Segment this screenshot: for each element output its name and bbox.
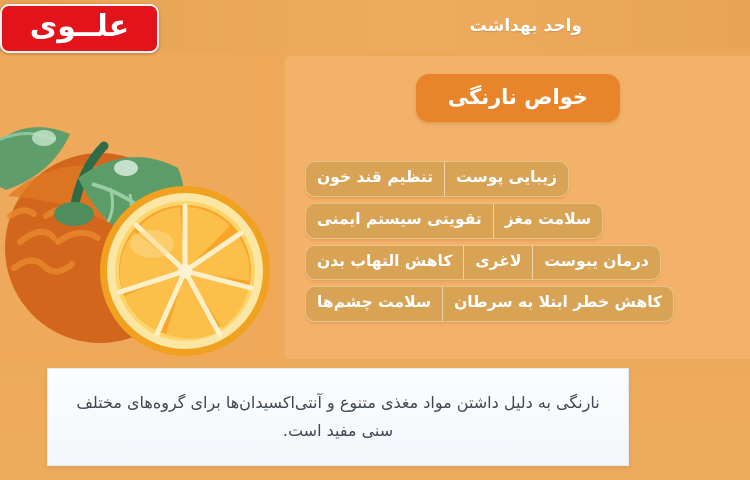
property-item[interactable]: زیبایی پوست bbox=[445, 162, 568, 196]
property-item[interactable]: درمان یبوست bbox=[533, 246, 659, 280]
property-item[interactable]: کاهش التهاب بدن bbox=[306, 246, 464, 280]
property-item[interactable]: کاهش خطر ابتلا به سرطان bbox=[443, 287, 673, 321]
header-title: واحد بهداشت bbox=[470, 16, 582, 36]
brand-logo-text: علــوی bbox=[30, 12, 130, 42]
property-item[interactable]: سلامت مغز bbox=[494, 204, 602, 238]
page-title: خواص نارنگی bbox=[416, 74, 620, 122]
description-text: نارنگی به دلیل داشتن مواد مغذی متنوع و آ… bbox=[70, 389, 606, 445]
property-row-1: زیبایی پوست تنظیم قند خون bbox=[305, 161, 569, 197]
properties-panel: خواص نارنگی زیبایی پوست تنظیم قند خون سل… bbox=[285, 56, 750, 359]
property-item[interactable]: تنظیم قند خون bbox=[306, 162, 445, 196]
fruit-image-panel bbox=[0, 56, 277, 359]
brand-logo: علــوی bbox=[0, 4, 159, 53]
property-item[interactable]: لاغری bbox=[464, 246, 533, 280]
property-row-4: کاهش خطر ابتلا به سرطان سلامت چشم‌ها bbox=[305, 286, 674, 322]
orange-fruit-icon bbox=[0, 56, 277, 359]
property-row-3: درمان یبوست لاغری کاهش التهاب بدن bbox=[305, 245, 661, 281]
property-row-2: سلامت مغز تقویتی سیستم ایمنی bbox=[305, 203, 603, 239]
property-item[interactable]: سلامت چشم‌ها bbox=[306, 287, 443, 321]
properties-list: زیبایی پوست تنظیم قند خون سلامت مغز تقوی… bbox=[305, 161, 730, 322]
description-box: نارنگی به دلیل داشتن مواد مغذی متنوع و آ… bbox=[47, 368, 629, 466]
property-item[interactable]: تقویتی سیستم ایمنی bbox=[306, 204, 494, 238]
page-header: واحد بهداشت علــوی bbox=[0, 0, 750, 52]
infographic-poster: واحد بهداشت علــوی bbox=[0, 0, 750, 480]
